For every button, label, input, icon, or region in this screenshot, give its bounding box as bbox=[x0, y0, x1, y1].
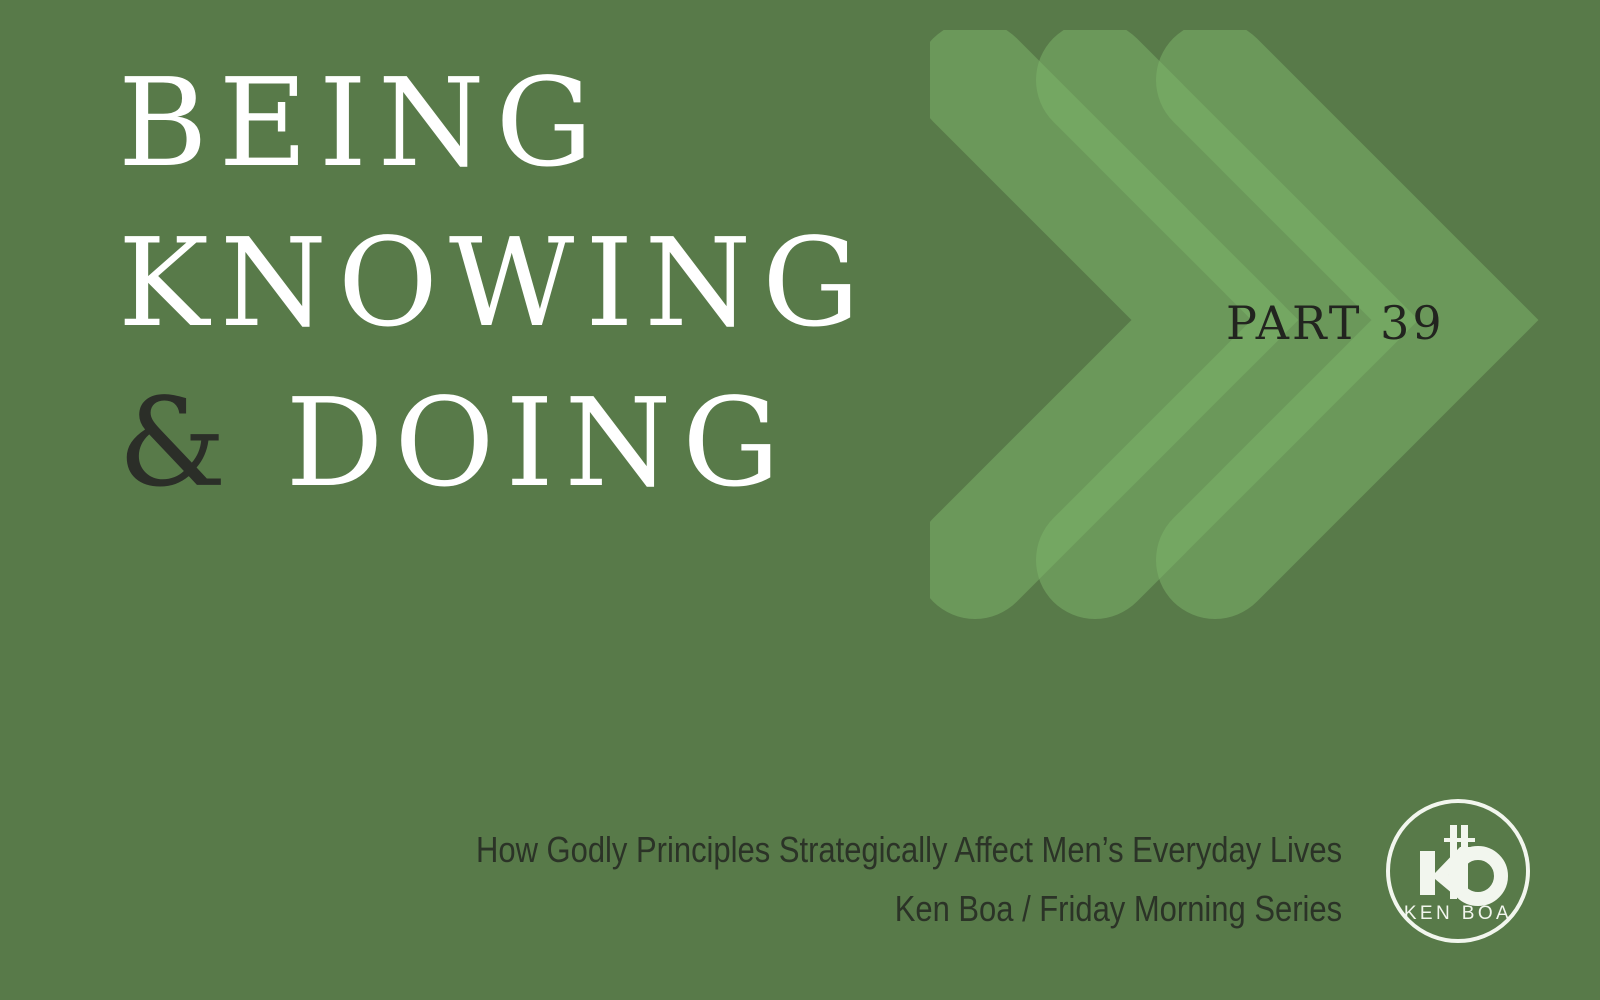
ampersand-glyph: & bbox=[118, 382, 238, 504]
footer-tagline: How Godly Principles Strategically Affec… bbox=[476, 821, 1342, 879]
part-label: PART 39 bbox=[1226, 296, 1445, 350]
title-line-knowing: KNOWING bbox=[118, 222, 1078, 344]
logo-wordmark: KEN BOA bbox=[1404, 903, 1512, 924]
slide-canvas: BEING KNOWING & DOING PART 39 How Godly … bbox=[0, 0, 1600, 1000]
ken-boa-logo: KEN BOA bbox=[1382, 795, 1534, 947]
title-block: BEING KNOWING & DOING bbox=[118, 62, 1078, 504]
title-line-being: BEING bbox=[118, 62, 1078, 184]
footer-text-block: How Godly Principles Strategically Affec… bbox=[335, 821, 1342, 938]
title-line-doing: DOING bbox=[286, 382, 791, 504]
footer-byline: Ken Boa / Friday Morning Series bbox=[476, 880, 1342, 938]
title-line-doing-row: & DOING bbox=[118, 382, 1078, 504]
